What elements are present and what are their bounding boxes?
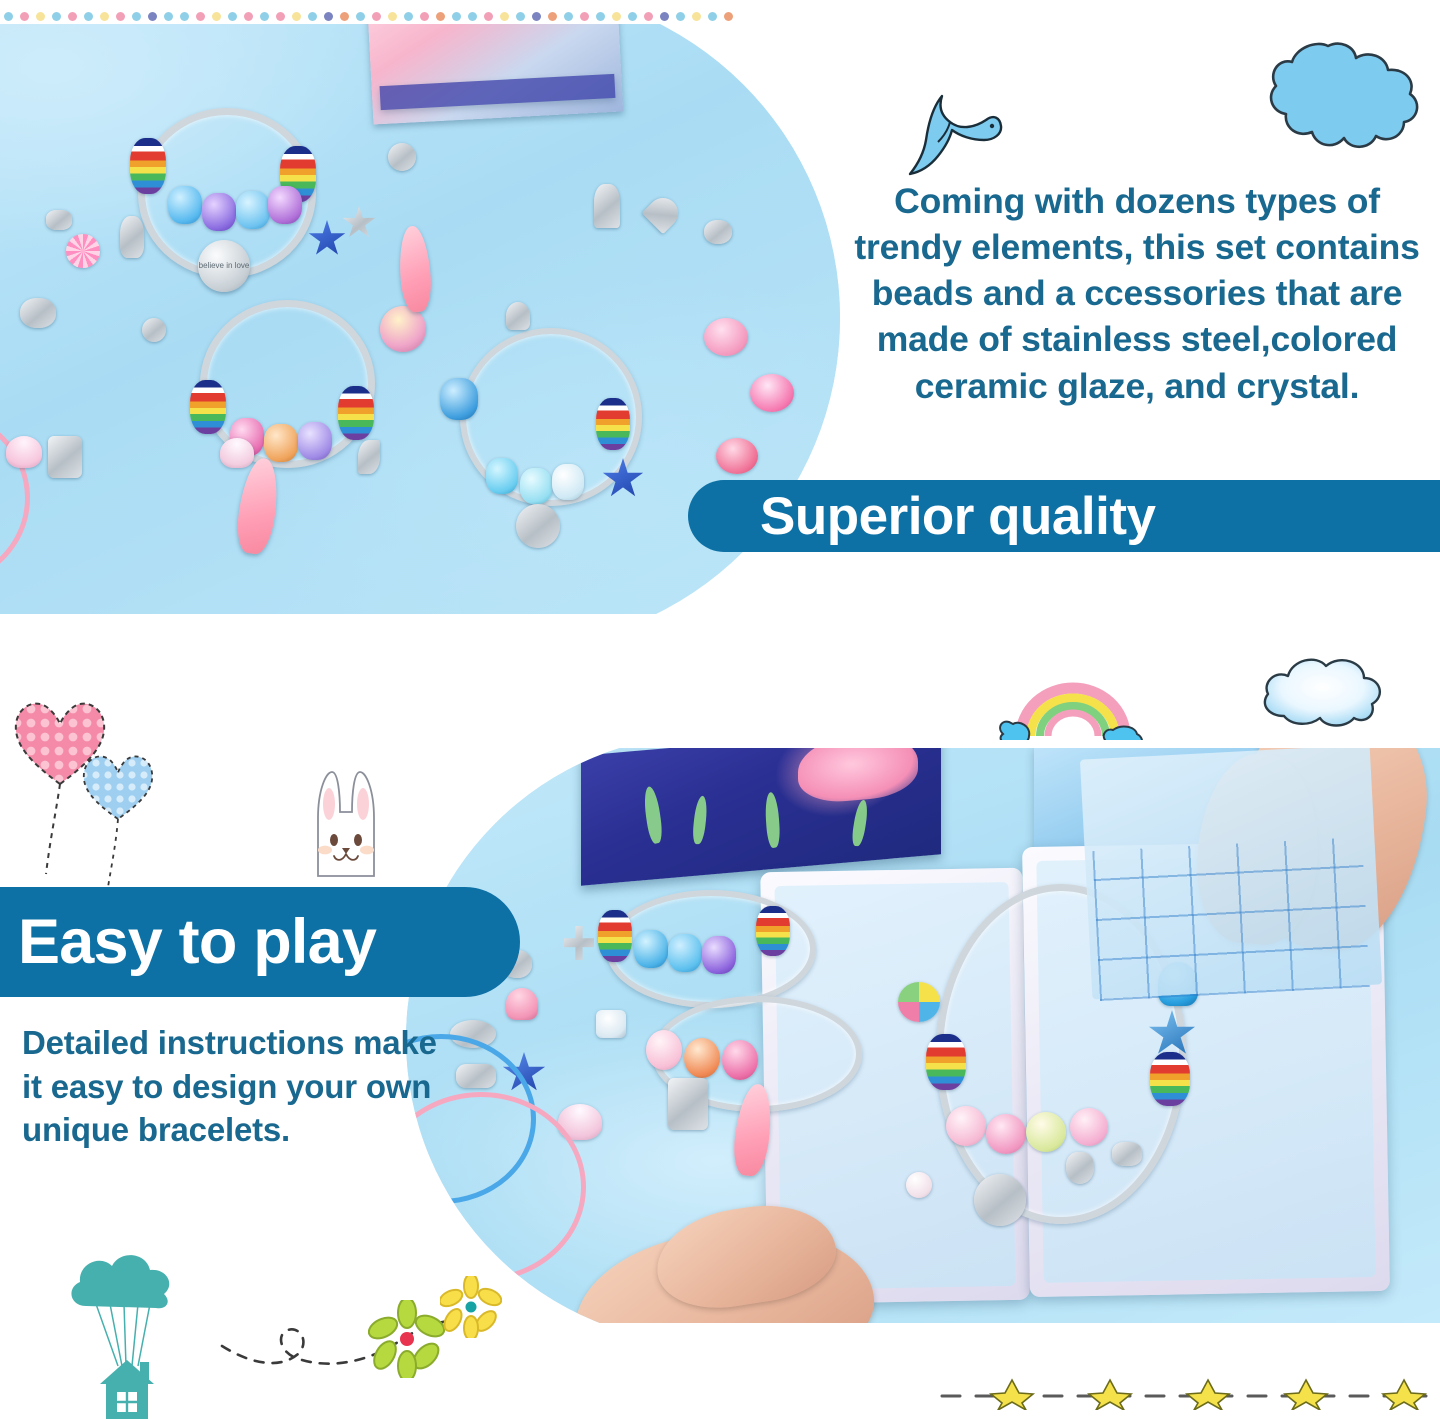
ceramic-bead [1026, 1112, 1066, 1152]
bell-charm [506, 302, 530, 330]
flower-cloud-icon [1258, 38, 1430, 154]
decorative-dot [52, 12, 61, 21]
decorative-dot [724, 12, 733, 21]
believe-in-love-charm: believe in love [198, 240, 250, 292]
decorative-dot [340, 12, 349, 21]
decorative-dot [148, 12, 157, 21]
decorative-dot [4, 12, 13, 21]
flower-green-icon [368, 1300, 446, 1378]
superior-quality-banner-label: Superior quality [760, 486, 1155, 547]
decorative-dot [580, 12, 589, 21]
house-balloon-icon [62, 1248, 182, 1419]
decorative-dot [324, 12, 333, 21]
pink-bead [986, 1114, 1026, 1154]
decorative-dot [132, 12, 141, 21]
decorative-dot [84, 12, 93, 21]
glass-bead [684, 1038, 720, 1078]
glass-bead [634, 930, 668, 968]
decorative-dot [68, 12, 77, 21]
glass-bead [722, 1040, 758, 1080]
glass-bead [440, 378, 478, 420]
decorative-dot [708, 12, 717, 21]
heart-balloon-blue-icon [78, 745, 158, 895]
decorative-dot [212, 12, 221, 21]
strawberry-charm [1066, 1152, 1094, 1184]
decorative-dot [164, 12, 173, 21]
decorative-dot [692, 12, 701, 21]
rainbow-bead [756, 906, 790, 956]
shell-charm [6, 436, 42, 468]
decorative-dot [196, 12, 205, 21]
glass-bead [202, 193, 236, 231]
rainbow-bead [598, 910, 632, 962]
decorative-dot [612, 12, 621, 21]
decorative-dot [548, 12, 557, 21]
easy-to-play-banner: Easy to play [0, 887, 520, 997]
sunflower-charm [974, 1174, 1026, 1226]
paw-charm [20, 298, 56, 328]
decorative-dot [596, 12, 605, 21]
decorative-dot [500, 12, 509, 21]
shell-charm [220, 438, 254, 468]
decorative-dot [36, 12, 45, 21]
decorative-dot [404, 12, 413, 21]
decorative-dot [564, 12, 573, 21]
follow-your-heart-tag [668, 1078, 708, 1130]
easy-to-play-banner-label: Easy to play [18, 906, 376, 978]
cupcake-charm [506, 988, 538, 1020]
bow-charm [1112, 1142, 1142, 1166]
angel-charm [704, 220, 732, 244]
decorative-dot [644, 12, 653, 21]
crystal-bead [716, 438, 758, 474]
dolphin-icon [902, 82, 1012, 182]
superior-quality-banner: Superior quality [688, 480, 1440, 552]
decorative-dot [116, 12, 125, 21]
crystal-bead [704, 318, 748, 356]
unicorn-charm [120, 216, 144, 258]
decorative-dot [180, 12, 189, 21]
star-dashed-line-icon [940, 1376, 1428, 1410]
flower-charm [388, 143, 416, 171]
pink-bead [1070, 1108, 1108, 1146]
glass-bead [298, 422, 332, 460]
glass-bead [486, 458, 518, 494]
decorative-dot [660, 12, 669, 21]
decorative-dot [420, 12, 429, 21]
decorative-dot [484, 12, 493, 21]
rainbow-bead [130, 138, 166, 194]
tag-charm [48, 436, 82, 478]
instruction-card [367, 24, 623, 124]
rainbow-bead [338, 386, 374, 440]
decorative-dot [468, 12, 477, 21]
cloud-icon [1258, 648, 1388, 732]
decorative-dot [356, 12, 365, 21]
glass-bead [668, 934, 702, 972]
glass-bead [552, 464, 584, 500]
rainbow-bead [190, 380, 226, 434]
bunny-icon [300, 768, 392, 878]
palm-tree-charm [594, 184, 620, 228]
decorative-dot [20, 12, 29, 21]
flower-enamel-bead [898, 982, 940, 1022]
decorative-dot [676, 12, 685, 21]
charm-disc-text: believe in love [199, 262, 250, 270]
decorative-dot [244, 12, 253, 21]
pink-bead [946, 1106, 986, 1146]
clock-charm [142, 318, 166, 342]
decorative-dot [228, 12, 237, 21]
sunflower-charm [516, 504, 560, 548]
lollipop-charm [66, 234, 100, 268]
rainbow-icon [995, 678, 1150, 740]
flower-yellow-icon [440, 1276, 502, 1338]
pearl-bead [906, 1172, 932, 1198]
decorative-dot [628, 12, 637, 21]
decorative-dot [372, 12, 381, 21]
decorative-dot [308, 12, 317, 21]
glass-bead [702, 936, 736, 974]
crystal-bead [380, 306, 426, 352]
glass-bead [264, 424, 298, 462]
decorative-dot [276, 12, 285, 21]
decorative-dot [388, 12, 397, 21]
decorative-dot-strip [0, 8, 646, 24]
leaf-charm [358, 440, 380, 474]
glass-bead [520, 468, 552, 504]
instruction-sheet-grid [1092, 837, 1369, 1001]
rainbow-bead [926, 1034, 966, 1090]
decorative-dot [532, 12, 541, 21]
crystal-bead [750, 374, 794, 412]
glass-bead [268, 186, 302, 224]
decorative-dot [516, 12, 525, 21]
glass-bead [236, 191, 270, 229]
glass-bead [168, 186, 202, 224]
decorative-dot [436, 12, 445, 21]
decorative-dot [452, 12, 461, 21]
rainbow-bead [596, 398, 630, 450]
section-two-photo-wrapper [406, 748, 1440, 1323]
superior-quality-body-text: Coming with dozens types of trendy eleme… [852, 178, 1422, 409]
rainbow-bead [1150, 1052, 1190, 1106]
pink-bead [646, 1030, 682, 1070]
infographic-page: believe in love [0, 0, 1440, 1419]
crystal-bead [596, 1010, 626, 1038]
easy-to-play-body-text: Detailed instructions make it easy to de… [22, 1021, 442, 1152]
jewelry-case-photo [406, 748, 1440, 1323]
decorative-dot [100, 12, 109, 21]
decorative-dot [292, 12, 301, 21]
decorative-dot [260, 12, 269, 21]
bow-charm [46, 210, 72, 230]
